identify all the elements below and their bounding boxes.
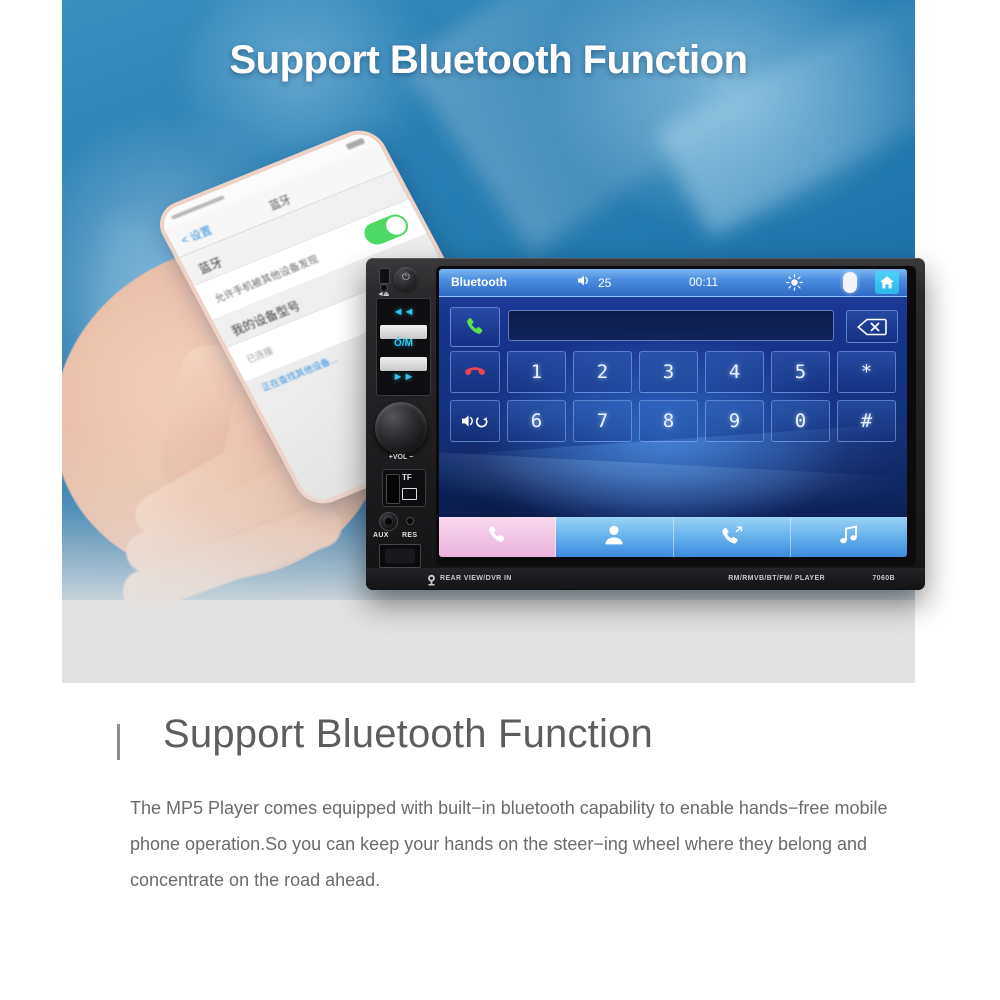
- banner-headline: Support Bluetooth Function: [62, 38, 915, 83]
- tab-dialpad[interactable]: [439, 517, 556, 557]
- mode-button[interactable]: Ó/M: [377, 338, 430, 349]
- status-volume-group[interactable]: 25: [577, 274, 611, 292]
- speaker-transfer-icon[interactable]: [450, 400, 500, 442]
- rear-view-label: REAR VIEW/DVR IN: [440, 575, 512, 582]
- call-button[interactable]: [450, 307, 500, 347]
- tf-slot-opening: [386, 474, 400, 504]
- keypad-row-1: 1 2 3 4 5 *: [450, 351, 896, 393]
- usb-slot[interactable]: [379, 544, 421, 568]
- dial-row: [450, 307, 896, 345]
- eject-icon[interactable]: ◄⏏: [377, 290, 389, 298]
- aux-label: AUX: [373, 532, 389, 539]
- section-body-text: The MP5 Player comes equipped with built…: [130, 790, 920, 898]
- stack-key-lower[interactable]: [380, 357, 427, 371]
- dial-keypad: 1 2 3 4 5 * 6 7 8 9 0 #: [450, 351, 896, 449]
- aux-jack[interactable]: [379, 512, 398, 531]
- key-6[interactable]: 6: [507, 400, 566, 442]
- section-title: Support Bluetooth Function: [163, 712, 653, 757]
- home-icon[interactable]: [875, 271, 899, 294]
- key-1[interactable]: 1: [507, 351, 566, 393]
- status-mode-title: Bluetooth: [451, 275, 507, 289]
- aux-jack-hole: [385, 518, 392, 525]
- person-icon: [604, 524, 624, 551]
- sun-icon[interactable]: [786, 274, 803, 296]
- phone-bluetooth-toggle[interactable]: [360, 211, 412, 248]
- key-0[interactable]: 0: [771, 400, 830, 442]
- next-track-button[interactable]: ►►: [377, 371, 430, 383]
- key-2[interactable]: 2: [573, 351, 632, 393]
- status-clock: 00:11: [689, 275, 718, 289]
- hangup-icon[interactable]: [450, 351, 500, 393]
- title-accent-bar: [117, 724, 120, 760]
- speaker-icon: [577, 274, 592, 292]
- call-history-icon: [720, 524, 744, 551]
- tab-music[interactable]: [791, 517, 907, 557]
- key-hash[interactable]: #: [837, 400, 896, 442]
- status-volume-value: 25: [598, 276, 611, 290]
- tf-card-slot[interactable]: TF: [382, 469, 426, 507]
- usb-slot-opening: [385, 549, 415, 563]
- car-stereo-unit: ◄⏏ ⏻ ◄◄ Ó/M ►► +VOL − TF AUX: [366, 258, 925, 590]
- power-icon: ⏻: [402, 272, 410, 283]
- key-4[interactable]: 4: [705, 351, 764, 393]
- volume-label: +VOL −: [374, 454, 428, 461]
- camera-icon: [426, 573, 437, 591]
- screen-tab-bar: [439, 517, 907, 557]
- transport-button-stack: ◄◄ Ó/M ►►: [376, 298, 431, 396]
- screen-status-bar: Bluetooth 25 00:11: [439, 269, 907, 297]
- stereo-control-column: ◄⏏ ⏻ ◄◄ Ó/M ►► +VOL − TF AUX: [374, 264, 432, 564]
- reset-button[interactable]: [406, 517, 414, 525]
- tf-label: TF: [402, 473, 412, 482]
- pill-icon[interactable]: [843, 272, 857, 293]
- player-format-label: RM/RMVB/BT/FM/ PLAYER: [728, 575, 825, 582]
- sd-card-icon: [402, 488, 417, 500]
- key-7[interactable]: 7: [573, 400, 632, 442]
- phone-battery-icon: [346, 138, 366, 150]
- backspace-icon[interactable]: [846, 310, 898, 343]
- model-number-label: 7060B: [872, 575, 895, 582]
- tab-contacts[interactable]: [556, 517, 673, 557]
- phone-number-input[interactable]: [508, 310, 834, 341]
- music-note-icon: [838, 524, 860, 551]
- stereo-faceplate: ◄⏏ ⏻ ◄◄ Ó/M ►► +VOL − TF AUX: [366, 258, 925, 568]
- stereo-footer: REAR VIEW/DVR IN RM/RMVB/BT/FM/ PLAYER 7…: [366, 568, 925, 590]
- key-star[interactable]: *: [837, 351, 896, 393]
- res-label: RES: [402, 532, 417, 539]
- key-3[interactable]: 3: [639, 351, 698, 393]
- stereo-touchscreen[interactable]: Bluetooth 25 00:11: [439, 269, 907, 557]
- phone-device-label: 已连接: [244, 344, 275, 366]
- volume-knob[interactable]: [375, 402, 427, 454]
- ir-sensor-icon: [379, 268, 390, 284]
- keypad-row-2: 6 7 8 9 0 #: [450, 400, 896, 442]
- key-5[interactable]: 5: [771, 351, 830, 393]
- previous-track-button[interactable]: ◄◄: [377, 306, 430, 318]
- phone-icon: [486, 524, 508, 551]
- key-8[interactable]: 8: [639, 400, 698, 442]
- key-9[interactable]: 9: [705, 400, 764, 442]
- stack-key-upper[interactable]: [380, 325, 427, 339]
- tab-call-log[interactable]: [674, 517, 791, 557]
- power-button[interactable]: ⏻: [394, 267, 418, 291]
